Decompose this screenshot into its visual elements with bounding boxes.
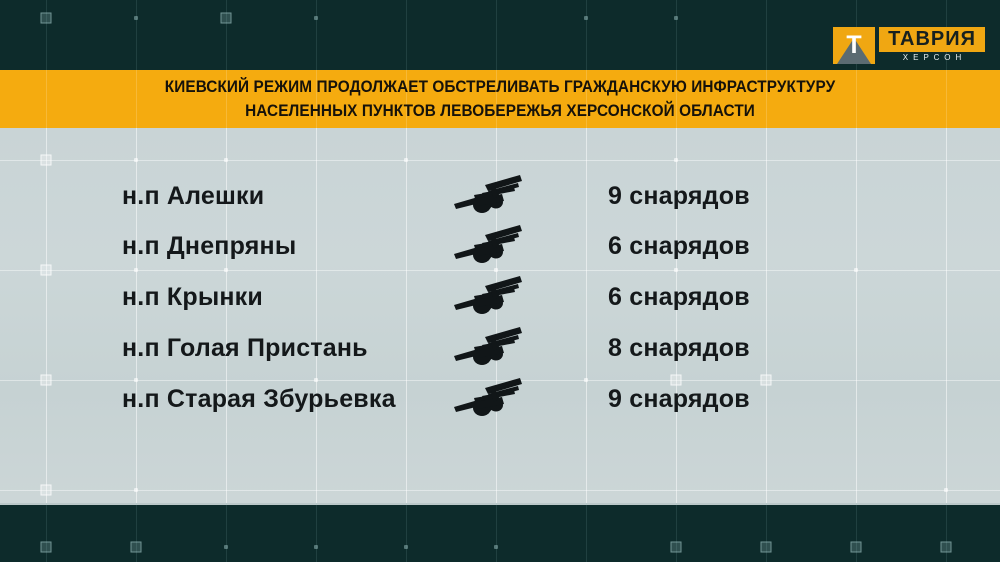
strike-report-list: н.п Алешки: [0, 128, 1000, 503]
list-item: н.п Днепряны: [0, 224, 1000, 268]
settlement-name: н.п Крынки: [122, 283, 263, 312]
logo-channel-subtitle: ХЕРСОН: [879, 52, 985, 64]
grid-node: [221, 13, 232, 24]
grid-node: [314, 16, 318, 20]
list-item: н.п Крынки: [0, 275, 1000, 319]
grid-node: [41, 13, 52, 24]
shell-count-value: 6 снарядов: [608, 232, 750, 261]
grid-node: [761, 542, 772, 553]
headline-line-1: КИЕВСКИЙ РЕЖИМ ПРОДОЛЖАЕТ ОБСТРЕЛИВАТЬ Г…: [165, 75, 835, 99]
shell-count-value: 6 снарядов: [608, 283, 750, 312]
howitzer-icon: [452, 174, 524, 218]
grid-node: [671, 542, 682, 553]
howitzer-icon: [452, 275, 524, 319]
shell-count-value: 9 снарядов: [608, 385, 750, 414]
grid-node: [851, 542, 862, 553]
headline: КИЕВСКИЙ РЕЖИМ ПРОДОЛЖАЕТ ОБСТРЕЛИВАТЬ Г…: [35, 70, 965, 128]
background-grid-bottom: [0, 503, 1000, 562]
list-item: н.п Голая Пристань: [0, 326, 1000, 370]
grid-node: [131, 542, 142, 553]
howitzer-icon: [452, 224, 524, 268]
logo-mark-icon: Т: [833, 27, 875, 64]
channel-logo: Т ТАВРИЯ ХЕРСОН: [833, 27, 985, 64]
headline-line-2: НАСЕЛЕННЫХ ПУНКТОВ ЛЕВОБЕРЕЖЬЯ ХЕРСОНСКО…: [245, 99, 755, 123]
grid-node: [494, 545, 498, 549]
list-item: н.п Старая Збурьевка: [0, 377, 1000, 421]
grid-node: [404, 545, 408, 549]
shell-count-value: 9 снарядов: [608, 182, 750, 211]
grid-node: [224, 545, 228, 549]
howitzer-icon: [452, 326, 524, 370]
grid-node: [584, 16, 588, 20]
settlement-name: н.п Алешки: [122, 182, 264, 211]
bottom-band: [0, 503, 1000, 562]
logo-letter: Т: [833, 30, 875, 60]
broadcast-lower-third-graphic: Т ТАВРИЯ ХЕРСОН КИЕВСКИЙ РЕЖИМ ПРОДОЛЖАЕ…: [0, 0, 1000, 562]
grid-node: [314, 545, 318, 549]
logo-text-group: ТАВРИЯ ХЕРСОН: [879, 27, 985, 64]
grid-node: [134, 16, 138, 20]
top-band: Т ТАВРИЯ ХЕРСОН: [0, 0, 1000, 70]
grid-node: [941, 542, 952, 553]
howitzer-icon: [452, 377, 524, 421]
settlement-name: н.п Голая Пристань: [122, 334, 368, 363]
logo-channel-name: ТАВРИЯ: [879, 27, 985, 52]
grid-node: [41, 542, 52, 553]
settlement-name: н.п Днепряны: [122, 232, 296, 261]
grid-node: [674, 16, 678, 20]
list-item: н.п Алешки: [0, 174, 1000, 218]
shell-count-value: 8 снарядов: [608, 334, 750, 363]
settlement-name: н.п Старая Збурьевка: [122, 385, 396, 414]
